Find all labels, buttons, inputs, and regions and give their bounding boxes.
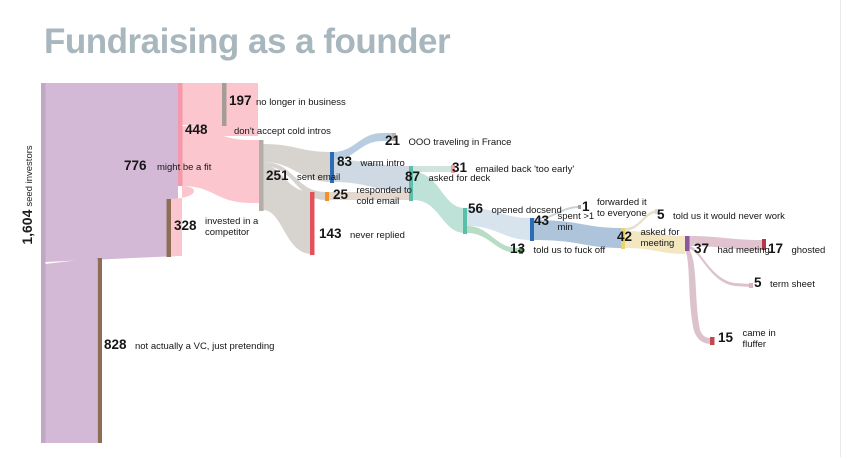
label-fuck-off-text: told us to fuck off [533,245,605,256]
label-might-be-a-fit-text: might be a fit [157,162,211,173]
label-sent-email-text: sent email [297,172,340,183]
label-ooo-traveling-in-france: 21 OOO traveling in France [385,132,511,150]
label-ghosted: 17 ghosted [768,240,825,258]
label-asked-for-deck-value: 87 [405,169,420,184]
right-edge-divider [840,0,847,460]
node-no-longer [222,83,227,126]
sankey-flow-canvas [0,0,847,460]
label-fuck-off-value: 13 [510,241,525,256]
label-responded-cold-text: responded to cold email [356,186,422,208]
label-had-meeting-value: 37 [694,241,709,256]
label-warm-intro: 83 warm intro [337,153,405,171]
label-ghosted-value: 17 [768,241,783,256]
label-dont-accept-value: 448 [185,122,208,137]
label-responded-to-cold-email: 25 responded to cold email [333,186,423,208]
label-ghosted-text: ghosted [791,245,825,256]
label-warm-intro-text: warm intro [360,158,404,169]
label-might-be-a-fit-value: 776 [124,158,147,173]
label-term-sheet-value: 5 [754,275,762,290]
label-told-us-to-fuck-off: 13 told us to fuck off [510,240,605,258]
label-never-work-value: 5 [657,207,665,222]
flow-seed-to-not-vc [45,258,97,443]
node-not-vc [98,258,103,443]
label-not-actually-a-vc: 828 not actually a VC, just pretending [104,336,274,354]
node-term-sheet [749,283,753,288]
label-ooo-france-value: 21 [385,133,400,148]
label-came-in-fluffer-value: 15 [718,330,733,345]
node-came-in-fluffer [710,337,715,345]
label-opened-docsend-value: 56 [468,201,483,216]
label-asked-meeting-text: asked for meeting [640,228,680,250]
label-ooo-france-text: OOO traveling in France [408,137,511,148]
node-opened-docsend [463,208,467,234]
node-responded-cold [325,192,329,201]
label-told-us-never-work: 5 told us it would never work [657,206,785,224]
label-sent-email-value: 251 [266,168,289,183]
label-term-sheet-text: term sheet [770,279,815,290]
label-too-early-text: emailed back 'too early' [475,164,574,175]
node-invested-competitor [167,199,172,257]
label-sent-email: 251 sent email [266,167,340,185]
label-emailed-back-too-early: 31 emailed back 'too early' [452,159,574,177]
label-asked-for-meeting: 42 asked for meeting [617,228,679,250]
label-never-replied: 143 never replied [319,225,405,243]
label-asked-meeting-value: 42 [617,229,632,244]
label-came-in-fluffer-text: came in fluffer [742,329,780,351]
label-never-work-text: told us it would never work [673,211,785,222]
label-had-meeting: 37 had meeting [694,240,770,258]
label-responded-cold-value: 25 [333,187,348,202]
label-invested-competitor-text: invested in a competitor [205,217,267,239]
label-forwarded-to-everyone: 1 forwarded it to everyone [582,198,646,220]
label-no-longer-in-business: 197 no longer in business [229,92,346,110]
label-not-vc-text: not actually a VC, just pretending [135,341,274,352]
label-no-longer-value: 197 [229,93,252,108]
node-forwarded [578,205,581,209]
label-too-early-value: 31 [452,160,467,175]
label-dont-accept-cold-intros: 448 don't accept cold intros [185,121,331,139]
label-dont-accept-text: don't accept cold intros [234,126,331,137]
label-no-longer-text: no longer in business [256,97,346,108]
label-forwarded-value: 1 [582,199,590,214]
node-had-meeting [685,236,690,251]
label-might-be-a-fit: 776 might be a fit [124,157,211,175]
label-term-sheet: 5 term sheet [754,274,815,292]
node-sent-email [259,140,264,211]
label-warm-intro-value: 83 [337,154,352,169]
flow-had-meeting-to-came-in-fluffer [685,249,712,344]
sankey-chart-root: Fundraising as a founder 1,604seed inves… [0,0,847,460]
node-seed-investors [41,83,46,443]
label-came-in-fluffer: 15 came in fluffer [718,329,780,351]
label-invested-competitor-value: 328 [174,218,197,233]
label-spent-1min-value: 43 [534,213,549,228]
label-not-vc-value: 828 [104,337,127,352]
label-never-replied-text: never replied [350,230,405,241]
label-forwarded-text: forwarded it to everyone [597,198,649,220]
label-had-meeting-text: had meeting [717,245,769,256]
label-invested-in-a-competitor: 328 invested in a competitor [174,217,266,239]
label-never-replied-value: 143 [319,226,342,241]
node-never-replied [310,192,315,255]
